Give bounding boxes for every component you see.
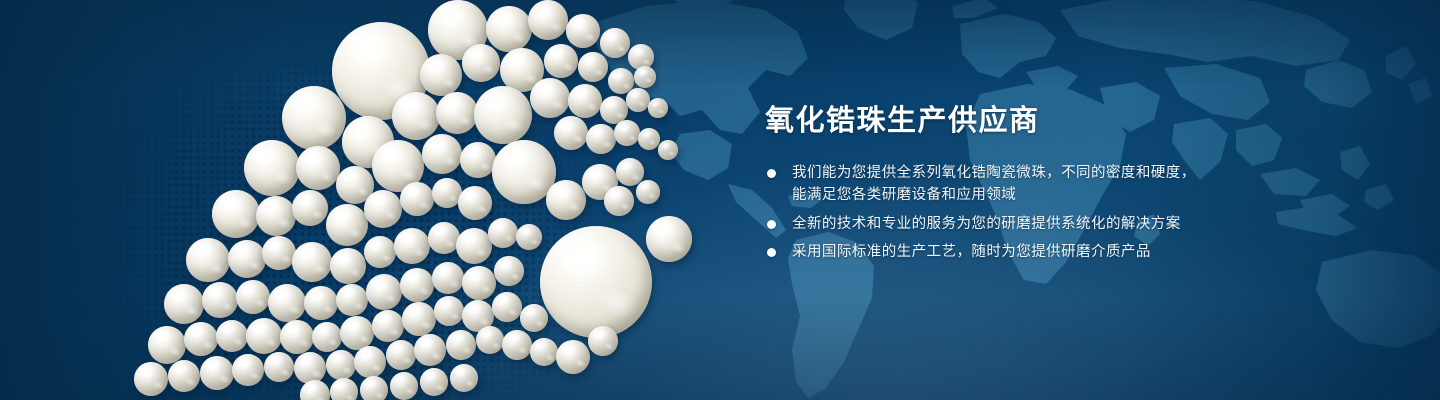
bullet-dot-icon bbox=[767, 248, 776, 257]
page-title: 氧化锆珠生产供应商 bbox=[765, 104, 1385, 139]
bullet-dot-icon bbox=[767, 220, 776, 229]
zirconia-beads-image bbox=[0, 0, 760, 400]
bullet-text-line-2: 能满足您各类研磨设备和应用领域 bbox=[792, 184, 1385, 207]
bullet-dot-icon bbox=[767, 169, 776, 178]
banner-content: 氧化锆珠生产供应商 我们能为您提供全系列氧化锆陶瓷微珠，不同的密度和硬度， 能满… bbox=[765, 104, 1385, 264]
feature-list: 我们能为您提供全系列氧化锆陶瓷微珠，不同的密度和硬度， 能满足您各类研磨设备和应… bbox=[765, 162, 1385, 264]
promo-banner: 氧化锆珠生产供应商 我们能为您提供全系列氧化锆陶瓷微珠，不同的密度和硬度， 能满… bbox=[0, 0, 1440, 400]
list-item: 我们能为您提供全系列氧化锆陶瓷微珠，不同的密度和硬度， 能满足您各类研磨设备和应… bbox=[765, 162, 1385, 207]
list-item: 全新的技术和专业的服务为您的研磨提供系统化的解决方案 bbox=[765, 213, 1385, 236]
bullet-text-line-1: 采用国际标准的生产工艺，随时为您提供研磨介质产品 bbox=[792, 241, 1385, 264]
bullet-text-line-1: 我们能为您提供全系列氧化锆陶瓷微珠，不同的密度和硬度， bbox=[792, 162, 1385, 185]
bullet-text-line-1: 全新的技术和专业的服务为您的研磨提供系统化的解决方案 bbox=[792, 213, 1385, 236]
list-item: 采用国际标准的生产工艺，随时为您提供研磨介质产品 bbox=[765, 241, 1385, 264]
